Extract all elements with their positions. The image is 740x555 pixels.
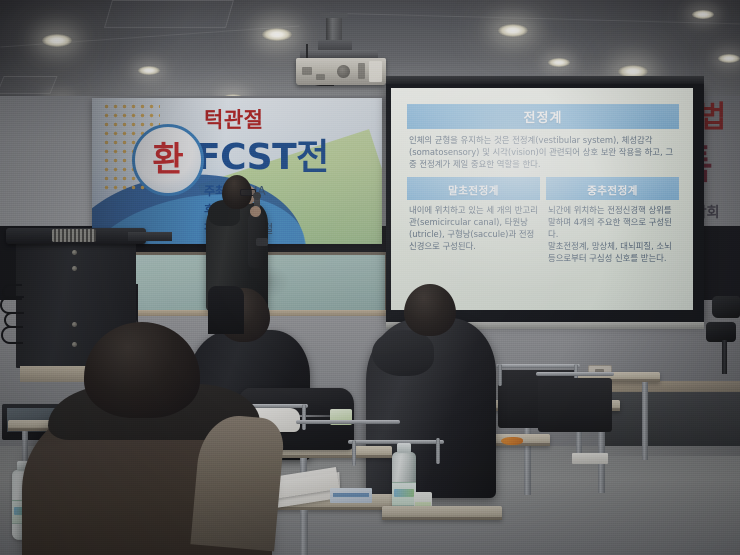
desk-leg <box>300 510 308 555</box>
recessed-downlight <box>262 28 292 41</box>
recessed-downlight <box>498 24 528 37</box>
camera-head-icon <box>712 296 740 318</box>
camera-lens-icon <box>706 322 736 342</box>
column-heading: 말초전정계 <box>448 185 499 197</box>
podium-knob <box>72 250 77 255</box>
bottle-label <box>392 482 416 506</box>
slide-title: 전정계 <box>524 111 563 126</box>
booklet-insert-card <box>330 488 372 503</box>
bottle-cap <box>397 443 411 453</box>
projector-vent <box>358 63 365 79</box>
attendee-hood <box>372 330 434 376</box>
slide-intro-text: 인체의 균형을 유지하는 것은 전정계(vestibular system), … <box>407 134 679 177</box>
column-heading-bar: 중추전정계 <box>546 177 679 200</box>
chair-post <box>436 438 440 464</box>
desk-edge <box>382 517 502 520</box>
column-heading-bar: 말초전정계 <box>407 177 540 200</box>
attendee-back-shoulder <box>208 286 244 334</box>
slide-two-columns: 말초전정계 내이에 위치하고 있는 세 개의 반고리관(semicircular… <box>407 177 679 265</box>
presenter-hand <box>250 206 261 217</box>
column-body-secondary: 말초전정계, 망상체, 대뇌피질, 소뇌 등으로부터 구심성 신호를 받는다. <box>546 240 679 264</box>
column-body: 내이에 위치하고 있는 세 개의 반고리관(semicircular canal… <box>407 204 540 253</box>
recessed-downlight <box>138 66 160 75</box>
chair-post <box>302 404 306 430</box>
desk-leg <box>642 382 648 460</box>
recessed-downlight <box>692 10 714 19</box>
slide-title-bar: 전정계 <box>407 104 679 129</box>
screen-roller-case <box>386 76 704 84</box>
projector-mount-pole <box>326 16 342 42</box>
ceiling-vent <box>0 76 58 94</box>
chair-rail <box>536 372 614 376</box>
slide-column-central: 중추전정계 뇌간에 위치하는 전정신경핵 상위를 말하며 4개의 주요한 핵으로… <box>546 177 679 265</box>
podium-side-arm <box>128 232 172 241</box>
column-body: 뇌간에 위치하는 전정신경핵 상위를 말하며 4개의 주요한 핵으로 구성된다. <box>546 204 679 241</box>
podium-knob <box>72 342 77 347</box>
chair-rail <box>496 364 580 368</box>
podium-knob <box>72 266 77 271</box>
attendee-head <box>404 284 456 336</box>
cable-bundle <box>0 282 30 352</box>
cable <box>1 326 23 344</box>
podium-speaker-grille <box>52 229 96 242</box>
camera-tripod <box>706 296 740 374</box>
orange-snack <box>501 437 523 445</box>
presenter-remote-clicker <box>256 238 268 246</box>
tripod-leg <box>722 340 727 374</box>
recessed-downlight <box>718 54 740 63</box>
classroom-chair <box>538 378 612 432</box>
projector-side-panel <box>369 61 382 82</box>
recessed-downlight <box>42 34 72 47</box>
slide-column-peripheral: 말초전정계 내이에 위치하고 있는 세 개의 반고리관(semicircular… <box>407 177 540 265</box>
projector-lens-icon <box>337 65 350 78</box>
chair-rail <box>348 440 444 444</box>
lecture-hall-photo: 요법 특 경의학회 턱관절 FCST전 환 주최 | CHA 후원 | 치유 장… <box>0 0 740 555</box>
paper-note <box>572 453 608 464</box>
screen-surface: 전정계 인체의 균형을 유지하는 것은 전정계(vestibular syste… <box>391 88 693 310</box>
recessed-downlight <box>548 58 570 67</box>
chair-rail <box>296 420 400 424</box>
student-desk <box>382 506 502 520</box>
column-heading: 중추전정계 <box>587 185 638 197</box>
ceiling-access-panel <box>104 0 234 28</box>
chair-post <box>352 440 356 466</box>
projector-vent <box>302 67 312 75</box>
podium-knob <box>72 322 77 327</box>
chair-post <box>498 364 502 386</box>
ceiling-projector <box>296 58 386 85</box>
projector-vent <box>316 74 325 80</box>
presentation-slide: 전정계 인체의 균형을 유지하는 것은 전정계(vestibular syste… <box>407 104 679 265</box>
